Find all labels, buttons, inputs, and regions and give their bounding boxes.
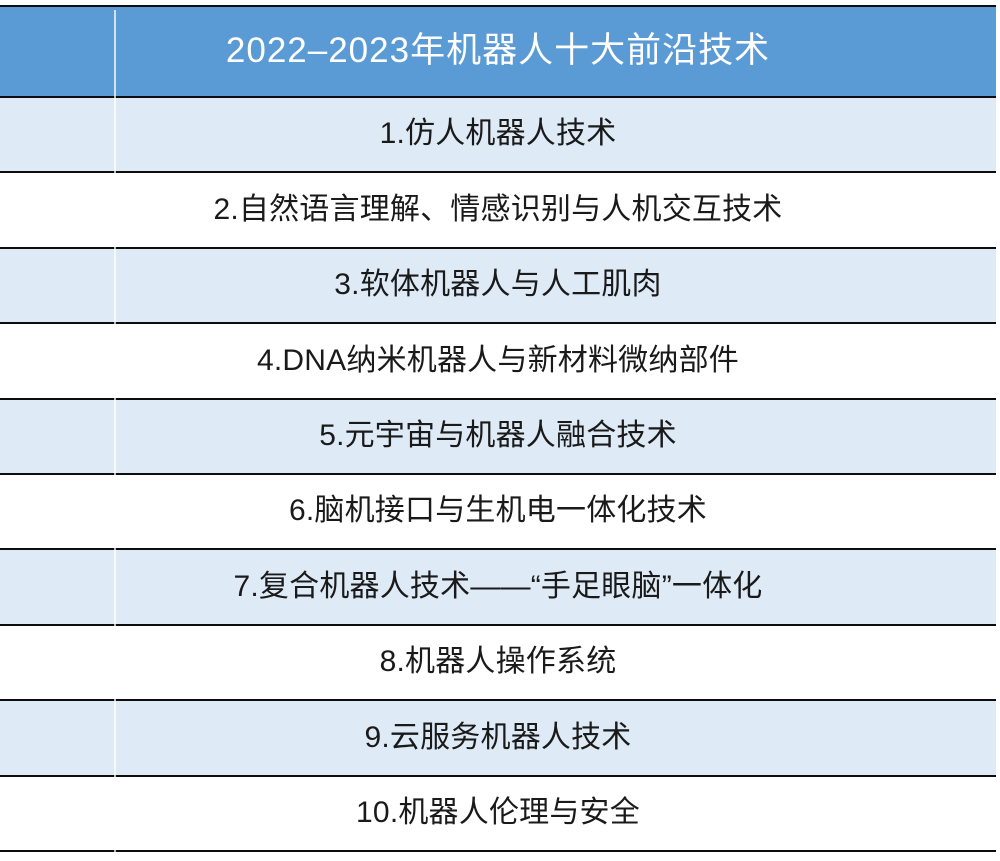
table-row[interactable]: 10.机器人伦理与安全 xyxy=(0,776,996,851)
table-row[interactable]: 4.DNA纳米机器人与新材料微纳部件 xyxy=(0,323,996,398)
table-body: 2022–2023年机器人十大前沿技术 1.仿人机器人技术 2.自然语言理解、情… xyxy=(0,6,996,851)
technology-item-4[interactable]: 4.DNA纳米机器人与新材料微纳部件 xyxy=(0,323,996,398)
table-row[interactable]: 5.元宇宙与机器人融合技术 xyxy=(0,399,996,474)
technology-item-3[interactable]: 3.软体机器人与人工肌肉 xyxy=(0,248,996,323)
technology-item-5[interactable]: 5.元宇宙与机器人融合技术 xyxy=(0,399,996,474)
table-row[interactable]: 7.复合机器人技术——“手足眼脑”一体化 xyxy=(0,549,996,624)
technology-item-6[interactable]: 6.脑机接口与生机电一体化技术 xyxy=(0,474,996,549)
table-row[interactable]: 2.自然语言理解、情感识别与人机交互技术 xyxy=(0,172,996,247)
top-ten-technologies-table: 2022–2023年机器人十大前沿技术 1.仿人机器人技术 2.自然语言理解、情… xyxy=(0,5,996,856)
technology-item-1[interactable]: 1.仿人机器人技术 xyxy=(0,97,996,172)
technology-item-10[interactable]: 10.机器人伦理与安全 xyxy=(0,776,996,851)
table-row[interactable]: 6.脑机接口与生机电一体化技术 xyxy=(0,474,996,549)
technology-item-8[interactable]: 8.机器人操作系统 xyxy=(0,625,996,700)
table-header-row: 2022–2023年机器人十大前沿技术 xyxy=(0,6,996,97)
technology-list-table: 2022–2023年机器人十大前沿技术 1.仿人机器人技术 2.自然语言理解、情… xyxy=(0,5,996,852)
table-row[interactable]: 8.机器人操作系统 xyxy=(0,625,996,700)
table-title: 2022–2023年机器人十大前沿技术 xyxy=(0,6,996,97)
technology-item-2[interactable]: 2.自然语言理解、情感识别与人机交互技术 xyxy=(0,172,996,247)
technology-item-9[interactable]: 9.云服务机器人技术 xyxy=(0,700,996,775)
table-row[interactable]: 3.软体机器人与人工肌肉 xyxy=(0,248,996,323)
table-row[interactable]: 9.云服务机器人技术 xyxy=(0,700,996,775)
table-row[interactable]: 1.仿人机器人技术 xyxy=(0,97,996,172)
technology-item-7[interactable]: 7.复合机器人技术——“手足眼脑”一体化 xyxy=(0,549,996,624)
